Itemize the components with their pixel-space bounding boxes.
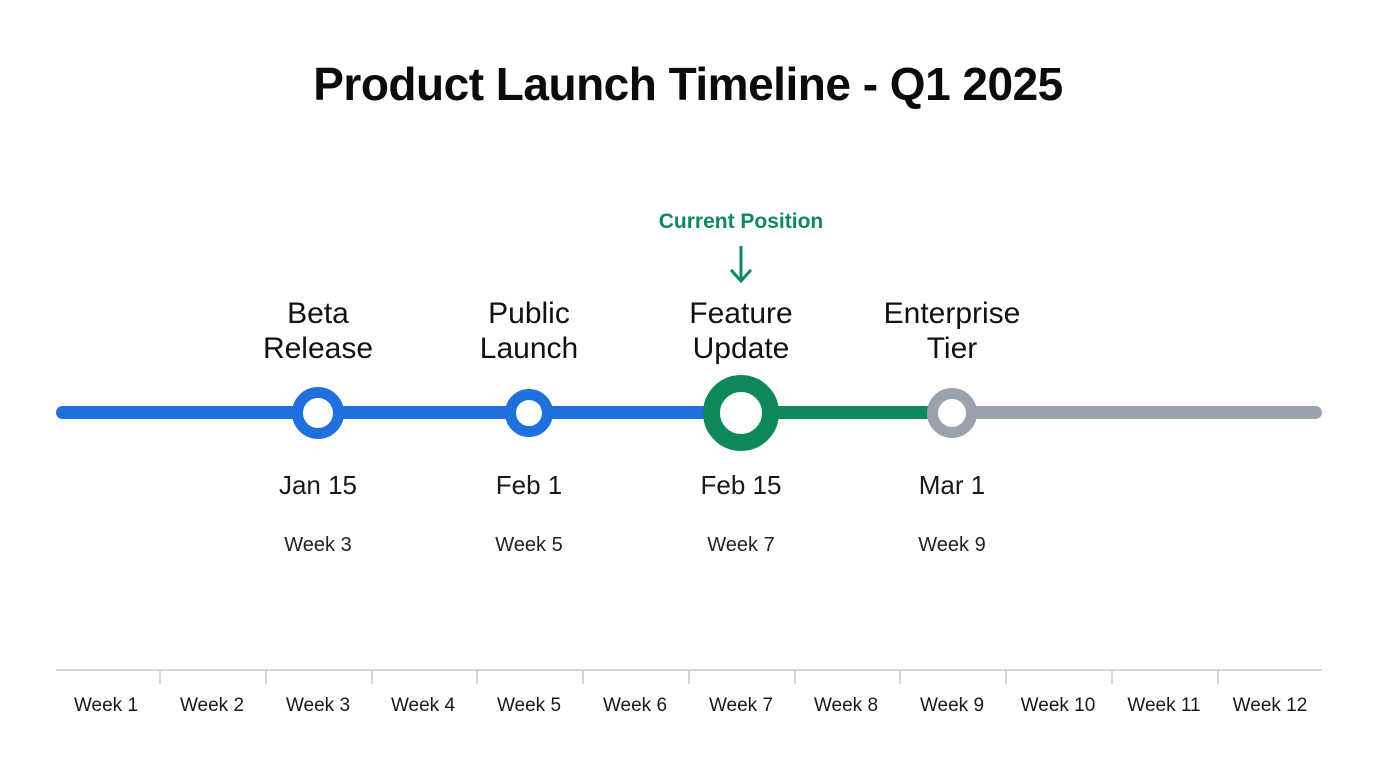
- current-position-label: Current Position: [591, 208, 891, 236]
- milestone-marker-current[interactable]: [703, 375, 779, 451]
- milestone-date: Mar 1: [832, 470, 1072, 500]
- milestone-marker-completed[interactable]: [292, 387, 344, 439]
- week-tick: [794, 671, 796, 684]
- week-tick: [265, 671, 267, 684]
- arrow-down-icon: [726, 246, 756, 286]
- week-tick: [159, 671, 161, 684]
- week-tick: [1111, 671, 1113, 684]
- week-tick: [688, 671, 690, 684]
- milestone-week: Week 5: [409, 533, 649, 557]
- week-tick: [371, 671, 373, 684]
- week-tick: [582, 671, 584, 684]
- timeline-canvas: Product Launch Timeline - Q1 2025 Curren…: [0, 0, 1376, 768]
- milestone-date: Feb 1: [409, 470, 649, 500]
- week-tick: [1217, 671, 1219, 684]
- milestone-marker-upcoming[interactable]: [927, 388, 977, 438]
- week-tick: [476, 671, 478, 684]
- page-title: Product Launch Timeline - Q1 2025: [0, 54, 1376, 114]
- upcoming-segment: [952, 406, 1322, 419]
- week-tick: [899, 671, 901, 684]
- milestone-date: Jan 15: [198, 470, 438, 500]
- completed-segment: [56, 406, 741, 419]
- milestone-week: Week 3: [198, 533, 438, 557]
- week-tick: [1005, 671, 1007, 684]
- milestone-week: Week 7: [621, 533, 861, 557]
- milestone-title: EnterpriseTier: [822, 296, 1082, 366]
- milestone-week: Week 9: [832, 533, 1072, 557]
- milestone-title-line: Tier: [822, 331, 1082, 366]
- week-axis-label: Week 12: [1190, 694, 1350, 718]
- current-position-annotation: Current Position: [591, 208, 891, 288]
- milestone-date: Feb 15: [621, 470, 861, 500]
- milestone-marker-completed[interactable]: [505, 389, 553, 437]
- milestone-title-line: Enterprise: [822, 296, 1082, 331]
